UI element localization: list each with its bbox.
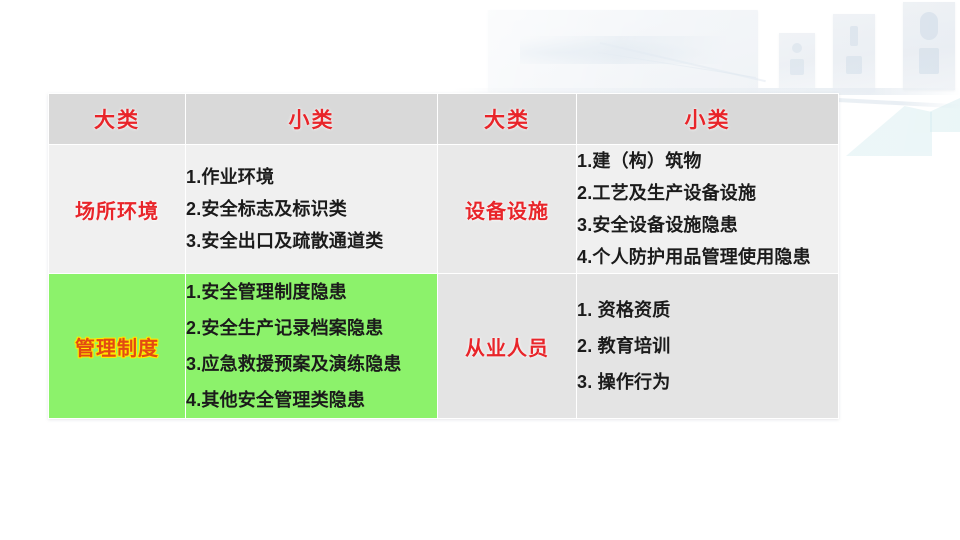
header-major-right: 大类 — [438, 94, 577, 145]
background-light-streak-2 — [598, 52, 756, 78]
list-item: 3.安全设备设施隐患 — [577, 209, 838, 241]
background-panel-glyph-1 — [792, 43, 802, 53]
list-item: 2.安全标志及标识类 — [186, 193, 437, 225]
category-cell-management-system: 管理制度 — [49, 274, 186, 419]
table-header-row: 大类 小类 大类 小类 — [49, 94, 839, 145]
background-panel-glyph-6 — [919, 48, 939, 74]
list-item: 3.安全出口及疏散通道类 — [186, 225, 437, 257]
list-item: 2.工艺及生产设备设施 — [577, 177, 838, 209]
header-minor-right: 小类 — [577, 94, 839, 145]
item-list: 1.作业环境 2.安全标志及标识类 3.安全出口及疏散通道类 — [186, 161, 437, 257]
list-item: 1. 资格资质 — [577, 292, 838, 328]
table-body: 场所环境 1.作业环境 2.安全标志及标识类 3.安全出口及疏散通道类 设备设施… — [49, 145, 839, 419]
background-panel-glyph-3 — [850, 26, 858, 46]
table-header: 大类 小类 大类 小类 — [49, 94, 839, 145]
background-wall-panel-3 — [903, 2, 955, 90]
background-light-streak-1 — [600, 42, 766, 82]
list-item: 3.应急救援预案及演练隐患 — [186, 346, 437, 382]
list-item: 2. 教育培训 — [577, 328, 838, 364]
list-item: 2.安全生产记录档案隐患 — [186, 310, 437, 346]
list-item: 3. 操作行为 — [577, 364, 838, 400]
list-item: 1.作业环境 — [186, 161, 437, 193]
hazard-classification-table: 大类 小类 大类 小类 场所环境 1.作业环境 2.安全标志及标识类 3.安全出… — [48, 93, 839, 419]
category-cell-personnel: 从业人员 — [438, 274, 577, 419]
header-minor-left: 小类 — [186, 94, 438, 145]
item-list: 1.安全管理制度隐患 2.安全生产记录档案隐患 3.应急救援预案及演练隐患 4.… — [186, 274, 437, 418]
background-panel-glyph-2 — [790, 59, 804, 75]
category-cell-site-environment: 场所环境 — [49, 145, 186, 274]
item-list: 1.建（构）筑物 2.工艺及生产设备设施 3.安全设备设施隐患 4.个人防护用品… — [577, 145, 838, 273]
list-item: 4.个人防护用品管理使用隐患 — [577, 241, 838, 273]
items-cell-site-environment: 1.作业环境 2.安全标志及标识类 3.安全出口及疏散通道类 — [186, 145, 438, 274]
category-cell-equipment-facilities: 设备设施 — [438, 145, 577, 274]
table-row: 场所环境 1.作业环境 2.安全标志及标识类 3.安全出口及疏散通道类 设备设施… — [49, 145, 839, 274]
item-list: 1. 资格资质 2. 教育培训 3. 操作行为 — [577, 292, 838, 400]
background-projection-screen — [488, 10, 758, 92]
background-panel-glyph-5 — [920, 12, 938, 40]
background-teal-shape-1 — [846, 106, 932, 156]
list-item: 1.安全管理制度隐患 — [186, 274, 437, 310]
table-row: 管理制度 1.安全管理制度隐患 2.安全生产记录档案隐患 3.应急救援预案及演练… — [49, 274, 839, 419]
items-cell-management-system: 1.安全管理制度隐患 2.安全生产记录档案隐患 3.应急救援预案及演练隐患 4.… — [186, 274, 438, 419]
background-teal-shape-2 — [930, 98, 960, 132]
list-item: 4.其他安全管理类隐患 — [186, 382, 437, 418]
header-major-left: 大类 — [49, 94, 186, 145]
items-cell-personnel: 1. 资格资质 2. 教育培训 3. 操作行为 — [577, 274, 839, 419]
background-panel-glyph-4 — [846, 56, 862, 74]
items-cell-equipment-facilities: 1.建（构）筑物 2.工艺及生产设备设施 3.安全设备设施隐患 4.个人防护用品… — [577, 145, 839, 274]
background-wall-panel-1 — [779, 33, 815, 88]
background-wall-panel-2 — [833, 14, 875, 92]
list-item: 1.建（构）筑物 — [577, 145, 838, 177]
